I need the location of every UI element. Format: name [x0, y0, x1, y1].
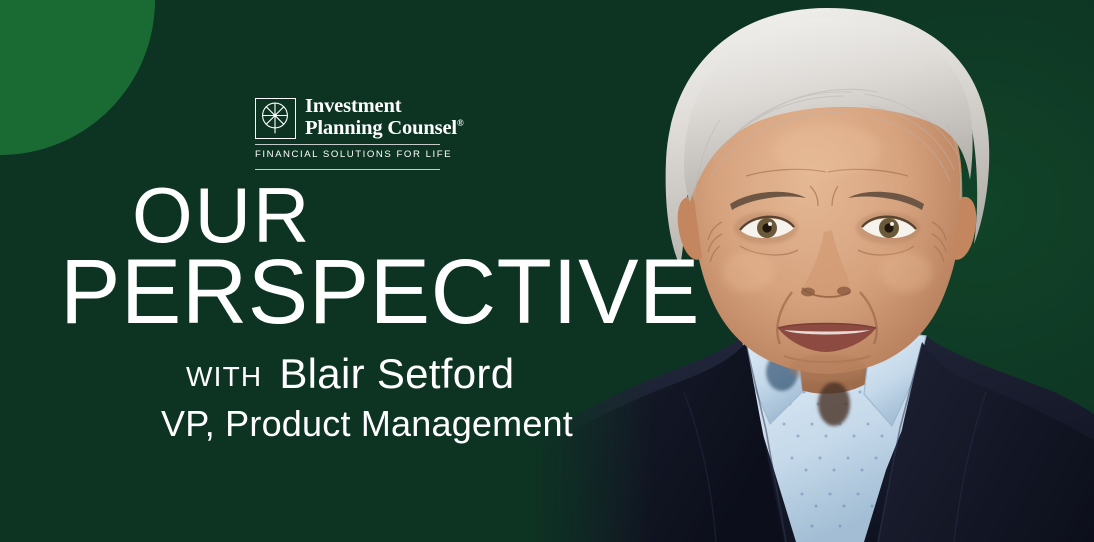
our-perspective-banner: Investment Planning Counsel® FINANCIAL S… — [0, 0, 1094, 542]
registered-trademark-symbol: ® — [457, 118, 464, 128]
brand-logo[interactable]: Investment Planning Counsel® FINANCIAL S… — [255, 96, 440, 170]
presenter-name: Blair Setford — [279, 350, 514, 398]
logo-line-2-text: Planning Counsel — [305, 117, 457, 139]
logo-mark-icon — [255, 98, 296, 139]
headline-line-2: PERSPECTIVE — [60, 248, 671, 336]
logo-tagline: FINANCIAL SOLUTIONS FOR LIFE — [255, 145, 440, 164]
logo-line-2: Planning Counsel® — [305, 118, 464, 139]
headline: OUR PERSPECTIVE — [60, 180, 680, 336]
presenter-line: WITH Blair Setford — [186, 350, 514, 398]
with-label: WITH — [186, 361, 262, 393]
presenter-role: VP, Product Management — [161, 403, 573, 445]
logo-rule-bottom — [255, 169, 440, 170]
logo-line-1: Investment — [305, 96, 464, 117]
